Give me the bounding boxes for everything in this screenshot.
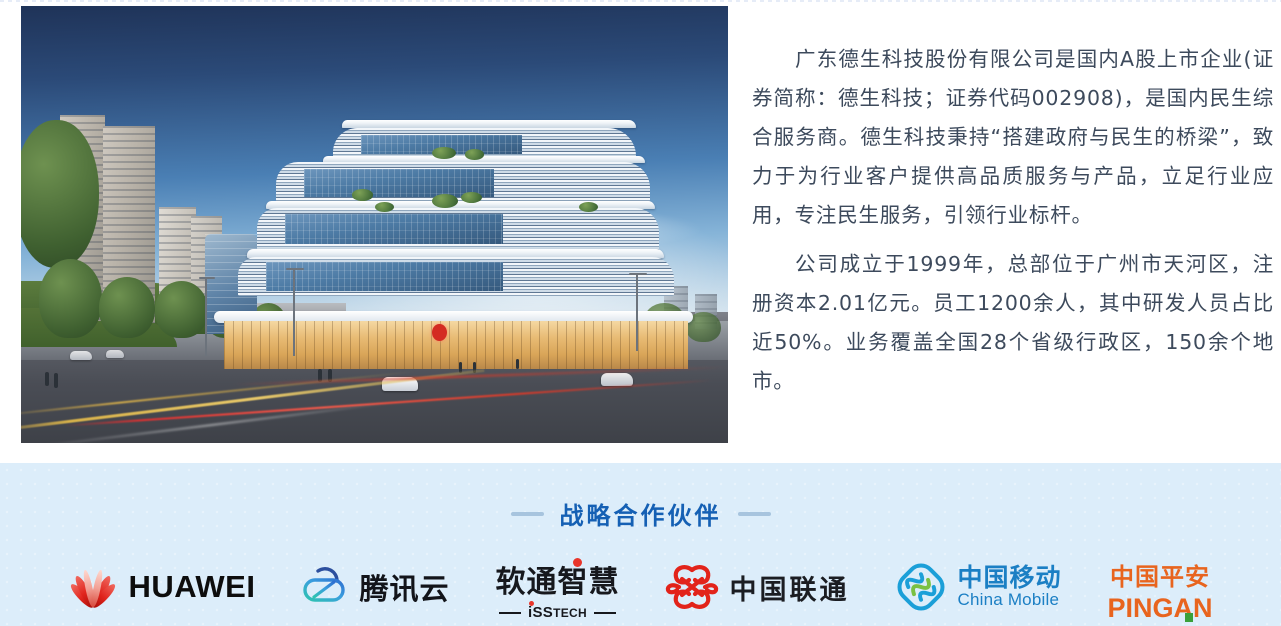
street-lamp — [205, 277, 207, 356]
ping-an-wordmark-cn: 中国平安 — [1110, 557, 1210, 592]
tree — [39, 259, 103, 338]
glass-facade — [266, 262, 503, 292]
street-lamp-arm — [629, 273, 647, 275]
partner-logo-china-mobile[interactable]: 中国移动 China Mobile — [895, 557, 1061, 617]
car — [70, 351, 91, 360]
paragraph-1: 广东德生科技股份有限公司是国内A股上市企业(证券简称：德生科技；证券代码0029… — [752, 40, 1274, 235]
pedestrian — [45, 372, 49, 386]
partners-section: 战略合作伙伴 HUAWEI — [0, 463, 1281, 626]
china-mobile-wordmark-en: China Mobile — [957, 591, 1061, 609]
pedestrian — [516, 359, 519, 369]
unicom-knot-icon — [665, 562, 719, 612]
isstech-wordmark-cn: 软通智慧 — [495, 557, 619, 601]
street-lamp — [636, 273, 638, 352]
street-lamp — [293, 268, 295, 355]
roof-planter — [352, 189, 373, 200]
china-mobile-wordmark-cn: 中国移动 — [957, 565, 1061, 591]
page-root: 广东德生科技股份有限公司是国内A股上市企业(证券简称：德生科技；证券代码0029… — [0, 0, 1281, 626]
tencent-cloud-wordmark: 腾讯云 — [359, 566, 449, 608]
top-dotted-divider — [0, 0, 1281, 2]
car — [106, 350, 124, 358]
ping-an-wordmark-en: PINGAN — [1108, 593, 1213, 624]
partners-title: 战略合作伙伴 — [560, 496, 722, 531]
partner-logo-isstech[interactable]: 软通智慧 iSSTECH — [495, 557, 619, 617]
roof-planter — [461, 192, 482, 203]
glass-facade — [285, 214, 503, 244]
huawei-flower-icon — [68, 565, 118, 609]
tree — [21, 120, 99, 269]
isstech-subtitle: iSSTECH — [499, 604, 616, 621]
decorative-dash-left — [511, 512, 544, 516]
partner-logo-row: HUAWEI 腾讯云 — [0, 557, 1281, 617]
green-accent-icon — [1185, 613, 1193, 622]
tencent-cloud-icon — [301, 566, 349, 608]
partner-logo-china-unicom[interactable]: 中国联通 — [665, 557, 849, 617]
roof-planter — [432, 194, 458, 208]
partner-logo-huawei[interactable]: HUAWEI — [68, 557, 255, 617]
decorative-dash-right — [594, 612, 616, 614]
tree — [155, 281, 208, 338]
china-mobile-wordmark: 中国移动 China Mobile — [957, 565, 1061, 609]
partner-logo-tencent-cloud[interactable]: 腾讯云 — [301, 557, 449, 617]
decorative-dash-left — [499, 612, 521, 614]
street-lamp-arm — [199, 277, 215, 279]
red-dot-accent-icon — [529, 601, 534, 606]
roof-planter — [375, 202, 394, 212]
tree — [99, 277, 156, 338]
roof-planter — [579, 202, 598, 212]
partner-logo-ping-an[interactable]: 中国平安 PINGAN — [1108, 557, 1213, 617]
hero-image — [21, 6, 728, 443]
unicom-wordmark: 中国联通 — [729, 568, 849, 607]
china-mobile-swirl-icon — [895, 562, 947, 612]
pedestrian — [54, 373, 58, 388]
street-lamp-arm — [286, 268, 304, 270]
isstech-wordmark-en: iSSTECH — [528, 604, 587, 621]
huawei-wordmark: HUAWEI — [128, 569, 255, 605]
main-building — [219, 120, 693, 369]
roof-slab — [342, 120, 636, 129]
decorative-dash-right — [738, 512, 771, 516]
roof-planter — [465, 149, 484, 159]
partners-header: 战略合作伙伴 — [0, 463, 1281, 531]
paragraph-2: 公司成立于1999年，总部位于广州市天河区，注册资本2.01亿元。员工1200余… — [752, 245, 1274, 401]
company-description: 广东德生科技股份有限公司是国内A股上市企业(证券简称：德生科技；证券代码0029… — [752, 40, 1274, 401]
